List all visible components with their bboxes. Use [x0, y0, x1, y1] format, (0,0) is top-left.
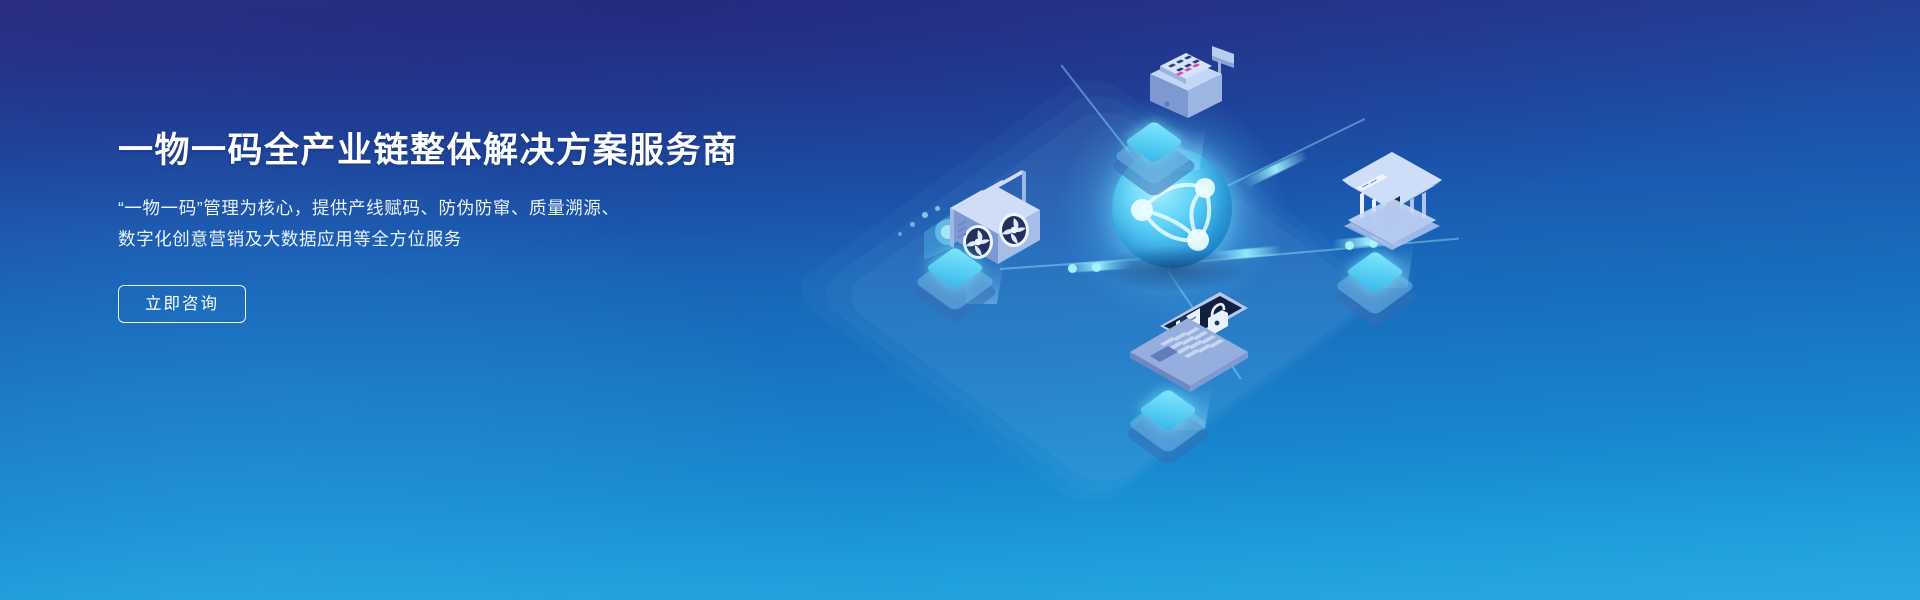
particle-dot-2 [910, 222, 915, 227]
laptop-pedestal [1141, 388, 1195, 434]
bank-building-icon [1330, 142, 1454, 254]
bank-pedestal [1348, 250, 1402, 296]
hero-illustration [880, 0, 1920, 600]
hero-banner: 一物一码全产业链整体解决方案服务商 “一物一码”管理为核心，提供产线赋码、防伪防… [0, 0, 1920, 600]
laptop-security-icon [1116, 282, 1256, 398]
hero-copy-block: 一物一码全产业链整体解决方案服务商 “一物一码”管理为核心，提供产线赋码、防伪防… [118, 132, 838, 323]
rack-pedestal [928, 246, 982, 292]
subtitle-line-1: “一物一码”管理为核心，提供产线赋码、防伪防窜、质量溯源、 [118, 193, 838, 224]
particle-dot-4 [898, 232, 902, 236]
page-title: 一物一码全产业链整体解决方案服务商 [118, 132, 838, 171]
consult-now-button[interactable]: 立即咨询 [118, 285, 246, 323]
pos-pedestal [1127, 120, 1181, 166]
subtitle-line-2: 数字化创意营销及大数据应用等全方位服务 [118, 224, 838, 255]
